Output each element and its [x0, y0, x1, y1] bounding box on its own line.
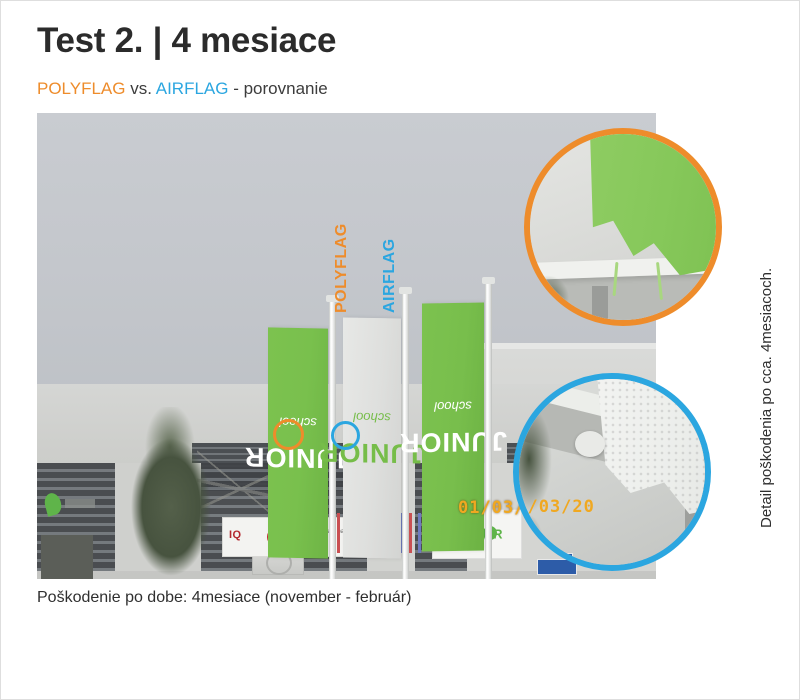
blue-damage-marker — [331, 421, 360, 450]
orange-damage-marker — [273, 419, 304, 450]
callout-blue-date-stamp: 01/03/20 — [513, 497, 595, 517]
vertical-label-airflag: AIRFLAG — [381, 238, 399, 313]
vertical-label-polyflag: POLYFLAG — [333, 223, 351, 313]
orange-detail-callout — [524, 128, 722, 326]
blue-detail-callout: 01/03/20 — [513, 373, 711, 571]
page-title: Test 2. | 4 mesiace — [37, 21, 336, 61]
callout-orange-tree — [524, 266, 582, 324]
subtitle-polyflag: POLYFLAG — [37, 79, 126, 98]
callout-orange-post — [592, 286, 608, 326]
flagpole-cap-middle — [399, 287, 412, 294]
subtitle-vs: vs. — [126, 79, 156, 98]
subtitle-airflag: AIRFLAG — [156, 79, 229, 98]
evergreen-tree-left — [115, 407, 235, 579]
callout-blue-tree — [513, 379, 573, 571]
flagpole-cap-right — [482, 277, 495, 284]
subtitle-line: POLYFLAG vs. AIRFLAG - porovnanie — [37, 79, 328, 99]
page-card: Test 2. | 4 mesiace POLYFLAG vs. AIRFLAG… — [0, 0, 800, 700]
bottom-caption: Poškodenie po dobe: 4mesiace (november -… — [37, 589, 411, 607]
storefront-green-logo — [45, 491, 100, 517]
right-vertical-caption: Detail poškodenia po cca. 4mesiacoch. — [758, 268, 775, 528]
callout-blue-bracket — [575, 431, 605, 457]
storefront-door — [41, 535, 93, 579]
flagpole-right — [485, 281, 492, 579]
iq-brand-text: IQ — [229, 529, 242, 541]
subtitle-suffix: - porovnanie — [228, 79, 327, 98]
